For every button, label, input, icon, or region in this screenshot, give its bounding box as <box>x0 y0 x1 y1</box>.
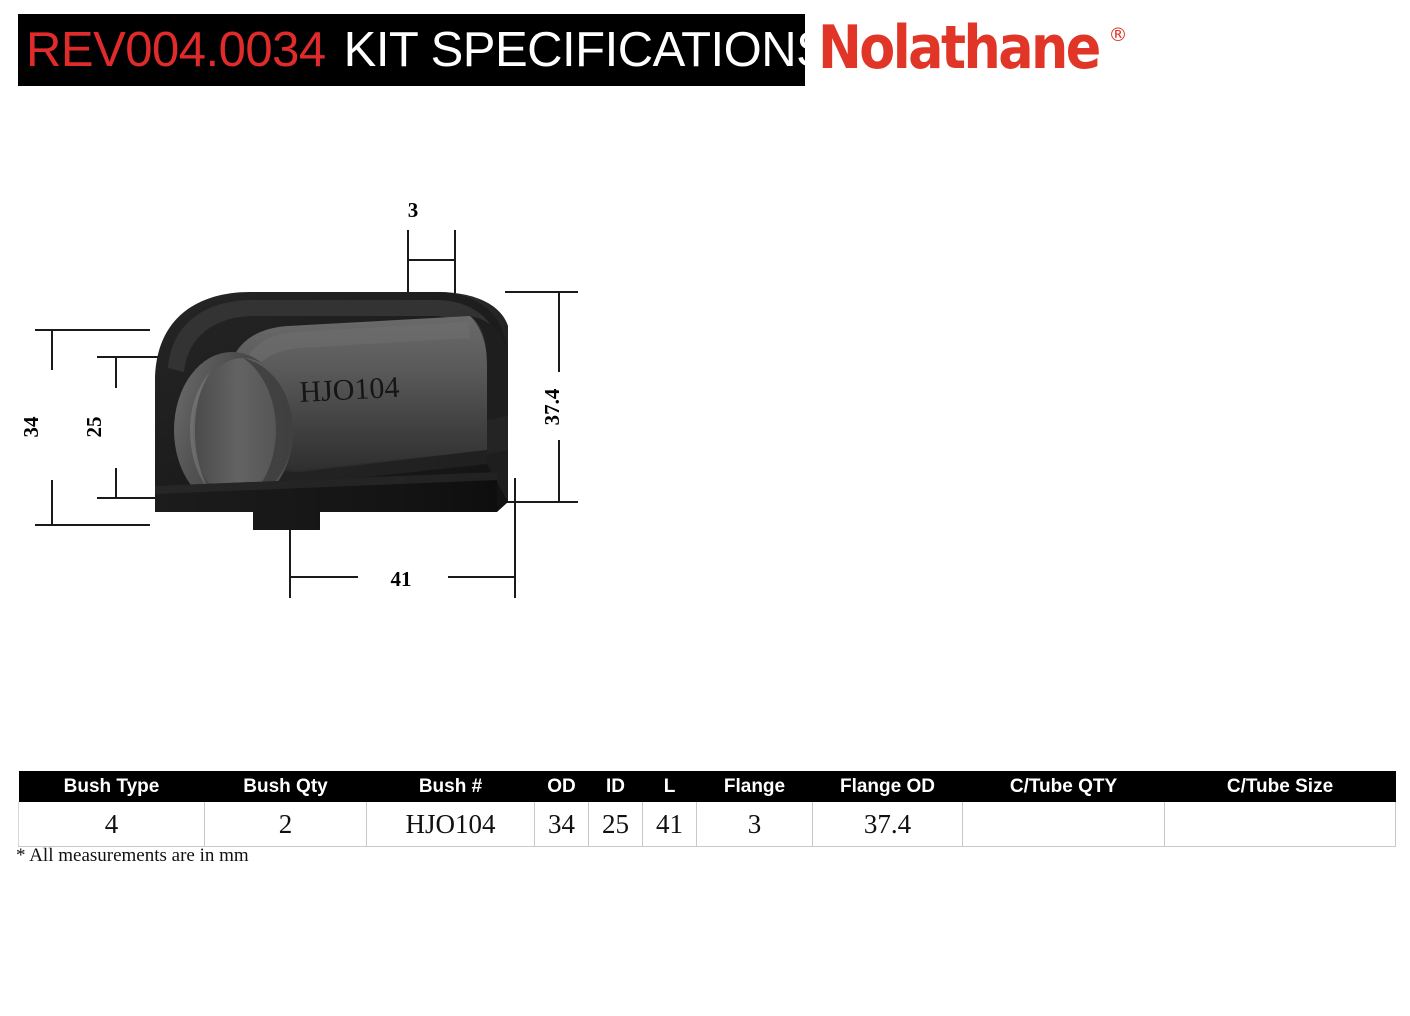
bushing-flange-step <box>487 416 508 454</box>
cell-ctube-qty <box>963 802 1165 847</box>
col-header-od: OD <box>535 771 589 802</box>
bushing-3d-model: HJO104 <box>155 292 508 530</box>
col-header-flange: Flange <box>697 771 813 802</box>
col-header-l: L <box>643 771 697 802</box>
registered-trademark-icon: ® <box>1109 26 1128 45</box>
col-header-id: ID <box>589 771 643 802</box>
cell-bush-number: HJO104 <box>367 802 535 847</box>
specifications-table-container: Bush Type Bush Qty Bush # OD ID L Flange… <box>18 771 1395 847</box>
cell-flange-od: 37.4 <box>813 802 963 847</box>
cell-od: 34 <box>535 802 589 847</box>
cell-l: 41 <box>643 802 697 847</box>
dim-label-34: 34 <box>19 416 43 438</box>
specifications-table: Bush Type Bush Qty Bush # OD ID L Flange… <box>18 771 1396 847</box>
cell-bush-type: 4 <box>19 802 205 847</box>
cell-bush-qty: 2 <box>205 802 367 847</box>
col-header-bush-number: Bush # <box>367 771 535 802</box>
measurements-footnote: * All measurements are in mm <box>16 845 249 867</box>
dim-label-374: 37.4 <box>540 388 564 425</box>
cell-id: 25 <box>589 802 643 847</box>
page-header: REV004.0034 KIT SPECIFICATIONS Nolathane… <box>0 0 1410 110</box>
col-header-flange-od: Flange OD <box>813 771 963 802</box>
dim-label-3: 3 <box>408 198 419 222</box>
col-header-ctube-size: C/Tube Size <box>1165 771 1396 802</box>
dim-label-41: 41 <box>391 567 412 591</box>
part-technical-drawing: HJO104 3 37.4 34 25 41 <box>0 120 700 640</box>
cell-ctube-size <box>1165 802 1396 847</box>
col-header-ctube-qty: C/Tube QTY <box>963 771 1165 802</box>
dim-label-25: 25 <box>82 417 106 438</box>
kit-code: REV004.0034 <box>26 26 326 75</box>
brand-wordmark: Nolathane <box>818 16 1099 80</box>
page-title: KIT SPECIFICATIONS <box>344 26 829 75</box>
table-row: 4 2 HJO104 34 25 41 3 37.4 <box>19 802 1396 847</box>
nolathane-logo: Nolathane ® <box>818 16 1128 82</box>
col-header-bush-qty: Bush Qty <box>205 771 367 802</box>
cell-flange: 3 <box>697 802 813 847</box>
col-header-bush-type: Bush Type <box>19 771 205 802</box>
table-header-row: Bush Type Bush Qty Bush # OD ID L Flange… <box>19 771 1396 802</box>
title-bar: REV004.0034 KIT SPECIFICATIONS <box>18 14 805 86</box>
part-marking-label: HJO104 <box>299 371 401 409</box>
